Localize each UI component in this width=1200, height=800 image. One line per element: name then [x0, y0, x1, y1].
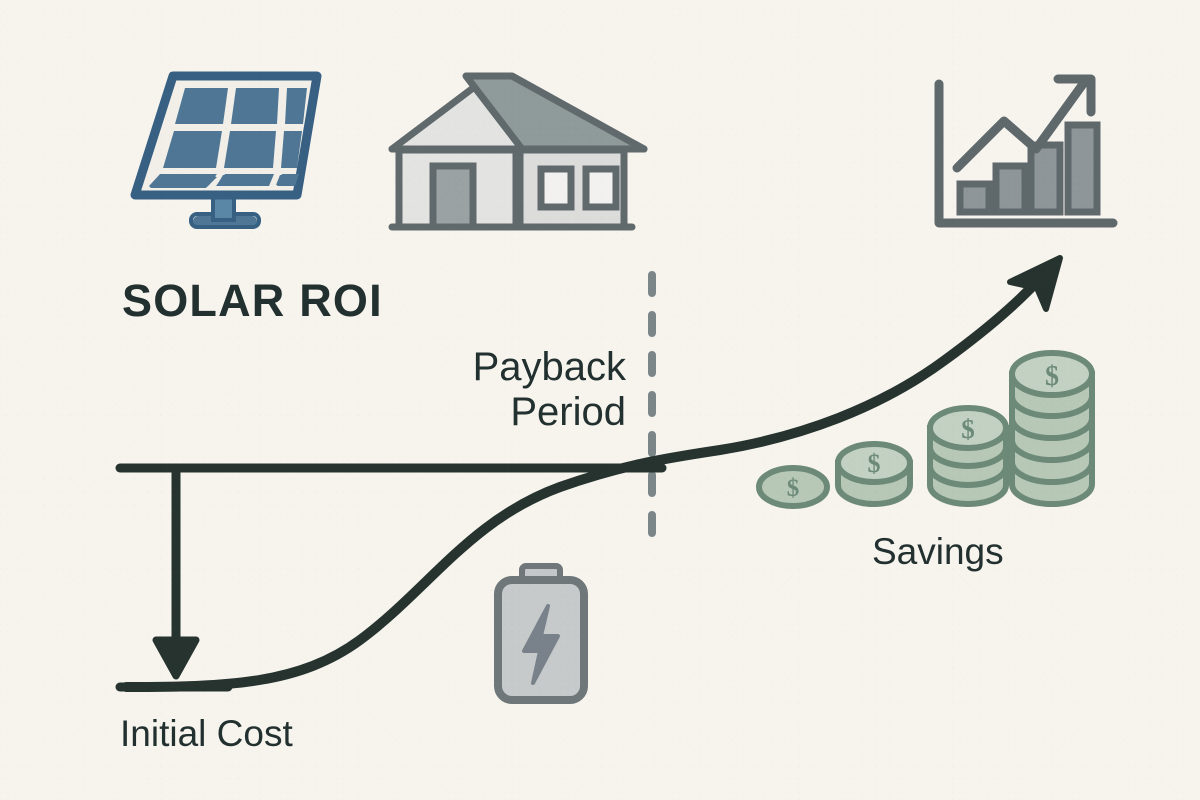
coin-stack-4: $ [1012, 353, 1092, 504]
house-icon [392, 76, 644, 227]
infographic-canvas: $ $ $ $ SOLAR ROI Payback Period [0, 0, 1200, 800]
savings-label: Savings [872, 531, 1004, 572]
svg-text:$: $ [961, 414, 975, 444]
svg-text:$: $ [787, 475, 800, 502]
solar-panel-icon [135, 76, 317, 227]
page-title: SOLAR ROI [122, 276, 383, 326]
payback-period-label: Payback Period [336, 345, 626, 435]
svg-text:$: $ [868, 449, 881, 478]
growth-chart-icon [939, 79, 1113, 223]
coin-stack-3: $ [930, 408, 1006, 504]
coin-stack-2: $ [838, 444, 910, 504]
initial-cost-label: Initial Cost [120, 713, 293, 754]
battery-icon [498, 566, 584, 700]
coin-stack-1: $ [759, 468, 827, 506]
initial-cost-arrow [156, 468, 196, 676]
svg-text:$: $ [1045, 361, 1059, 392]
